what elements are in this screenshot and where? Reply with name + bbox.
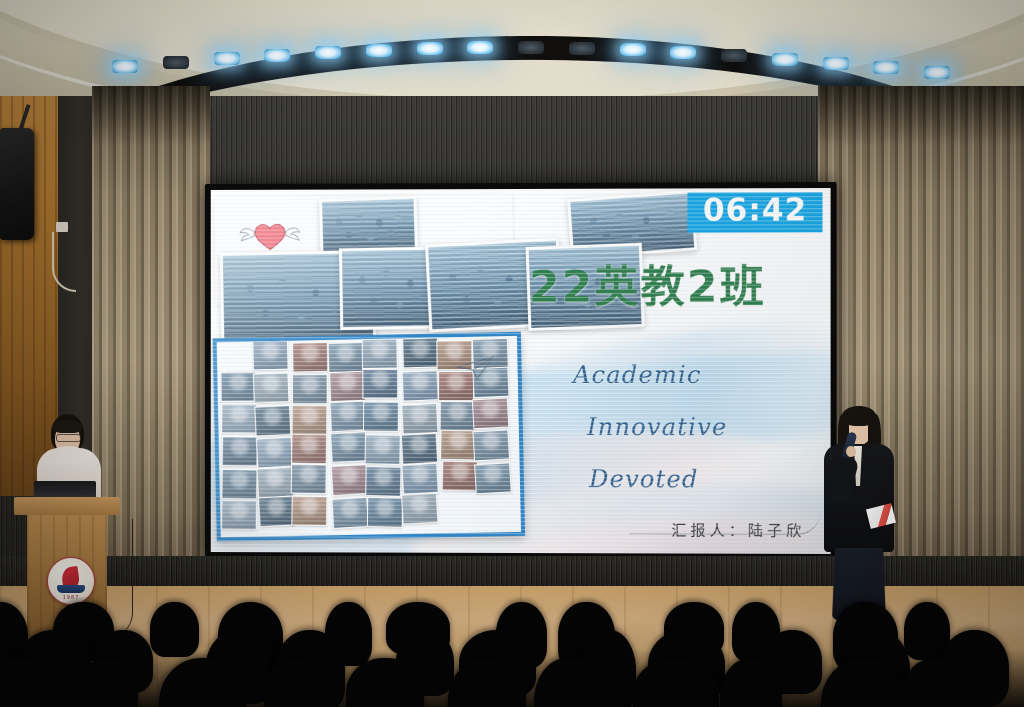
slide-title: 22英教2班 [529,250,766,315]
photo-grid-item [401,433,438,465]
stage-light [670,46,696,59]
photo-grid-item [401,463,438,495]
photo-grid-item [401,493,438,525]
photo-grid-item [440,430,476,461]
photo-grid-item [291,434,327,465]
stage-light [873,61,899,74]
stage-light [112,60,138,73]
stage-light [467,41,493,54]
photo-grid-item [221,404,257,434]
photo-grid-item [362,338,398,369]
slide-script-line-1: Academic [573,361,702,389]
photo-grid-item [327,342,363,373]
photo-grid-item [330,400,367,432]
photo-grid-item [253,372,290,403]
podium-top [14,497,120,515]
photo-grid-item [472,397,509,429]
photo-grid-item [221,469,257,500]
stage-light [366,44,392,57]
stage-light [264,49,290,62]
photo-grid-item [292,374,328,404]
photo-grid-item [331,464,368,496]
led-screen-bezel: 06:42 22英教2班 Academic Innovative Devoted… [205,182,837,560]
audience-head [150,602,198,657]
photo-grid-item [474,463,511,495]
photo-grid-item [258,496,295,528]
stage-light [569,42,595,55]
stage-light [315,46,341,59]
photo-grid-item [441,461,477,492]
stage-light [620,43,646,56]
photo-grid-item [254,405,291,437]
photo-grid-item [439,401,475,432]
photo-grid-item [362,369,398,399]
wall-outlet [56,222,68,232]
photo-grid-item [291,405,327,435]
stage-speaker [818,402,898,620]
photo-grid-item [221,500,257,531]
photo-grid-item [402,370,439,402]
stage-light [518,41,544,54]
photo-grid-item [472,429,509,461]
auditorium-scene: 06:42 22英教2班 Academic Innovative Devoted… [0,0,1024,707]
photo-grid-item [366,466,402,497]
photo-grid-item [292,496,328,527]
photo-grid-item [291,464,327,495]
photo-grid-item [329,371,366,403]
glasses-icon [56,434,81,442]
photo-grid-item [252,340,288,371]
stage-light [924,66,950,79]
photo-grid-item [221,372,257,402]
stage-light [823,57,849,70]
stage-light [417,42,443,55]
photo-grid-item [402,403,439,435]
slide-script-line-2: Innovative [587,413,727,441]
photo-grid-item [364,434,400,465]
photo-grid-item [257,467,294,499]
photo-grid-item [402,337,439,368]
wall-speaker-icon [0,128,34,240]
paper-plane-icon [455,355,495,381]
photo-grid-item [363,401,399,432]
photo-grid-item [222,436,258,467]
stage-light [214,52,240,65]
stage-light [163,56,189,69]
photo-grid-item [367,497,403,528]
photo-grid-item [292,342,328,373]
photo-grid-item [331,497,368,529]
presenter-label: 汇报人：陆子欣 [671,519,805,540]
countdown-timer: 06:42 [688,192,823,233]
stage-light [721,49,747,62]
audience-silhouettes [0,596,1024,707]
photo-grid-item [255,437,292,469]
photo-grid-item [331,431,368,463]
emblem-book-icon [57,585,85,593]
slide-script-line-3: Devoted [589,465,699,493]
winged-heart-icon [238,218,302,253]
stage-light [772,53,798,66]
presentation-slide[interactable]: 06:42 22英教2班 Academic Innovative Devoted… [211,188,831,554]
